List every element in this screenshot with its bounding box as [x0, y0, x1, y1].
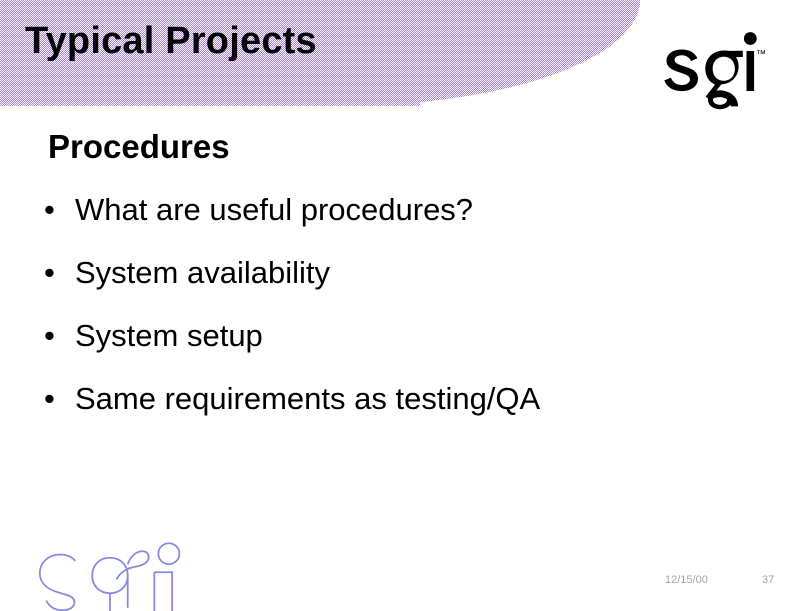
list-item-label: What are useful procedures?: [75, 190, 473, 230]
footer-page-number: 37: [762, 574, 774, 586]
body-heading: Procedures: [48, 128, 230, 166]
list-item: • Same requirements as testing/QA: [44, 379, 744, 442]
bullet-list: • What are useful procedures? • System a…: [44, 190, 744, 442]
list-item-label: System availability: [75, 253, 330, 293]
trademark-glyph: ™: [756, 49, 766, 60]
list-item-label: System setup: [75, 316, 263, 356]
list-item: • System availability: [44, 253, 744, 316]
slide: Typical Projects ™ Procedures • W: [0, 0, 791, 611]
sgi-watermark: [14, 540, 214, 611]
bullet-marker-icon: •: [44, 253, 75, 293]
sgi-logo: ™: [651, 24, 767, 110]
footer-date: 12/15/00: [665, 574, 708, 586]
list-item-label: Same requirements as testing/QA: [75, 379, 540, 419]
bullet-marker-icon: •: [44, 316, 75, 356]
bullet-marker-icon: •: [44, 190, 75, 230]
bullet-marker-icon: •: [44, 379, 75, 419]
list-item: • What are useful procedures?: [44, 190, 744, 253]
page-title: Typical Projects: [25, 21, 317, 63]
list-item: • System setup: [44, 316, 744, 379]
